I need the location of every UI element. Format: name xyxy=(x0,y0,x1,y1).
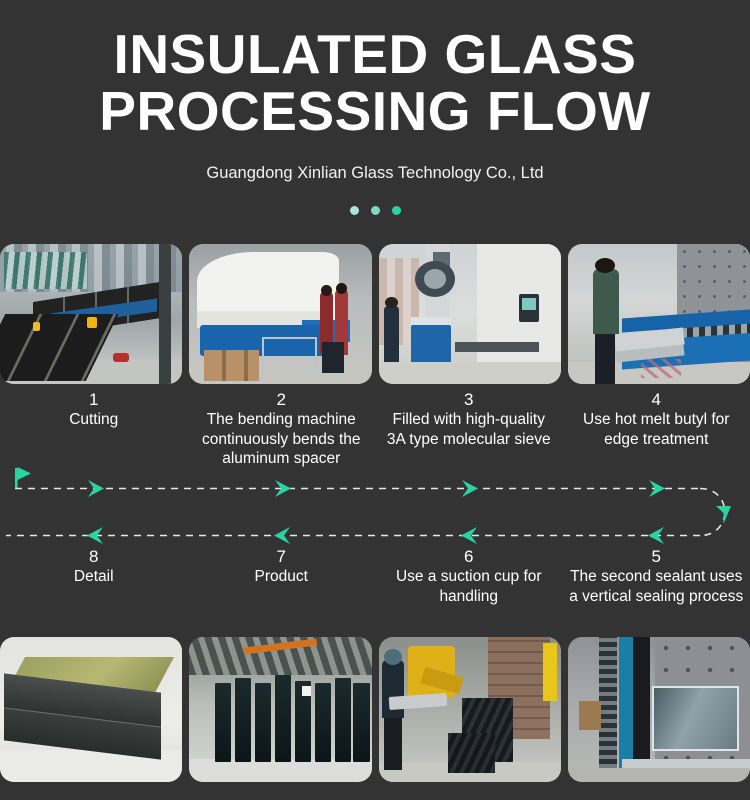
step-photo-8[interactable] xyxy=(0,637,182,782)
bending-machine-illustration xyxy=(189,244,371,384)
suction-cup-handling-illustration xyxy=(379,637,561,782)
flow-arrow-right-1 xyxy=(88,480,104,497)
step-label-8: 8 Detail xyxy=(0,546,188,606)
step-photo-6[interactable] xyxy=(379,637,561,782)
butyl-extruder-illustration xyxy=(568,244,750,384)
step-number-8: 8 xyxy=(6,546,182,567)
step-photo-7[interactable] xyxy=(189,637,371,782)
step-photo-5[interactable] xyxy=(568,637,750,782)
page-title-line-2: PROCESSING FLOW xyxy=(25,83,725,140)
step-text-5: The second sealant uses a vertical seali… xyxy=(569,567,745,606)
process-flow-arrows xyxy=(0,460,750,555)
page-title: INSULATED GLASS PROCESSING FLOW xyxy=(25,26,725,140)
flow-arrow-left-3 xyxy=(274,527,290,544)
step-label-6: 6 Use a suction cup for handling xyxy=(375,546,563,606)
step-text-1: Cutting xyxy=(6,410,182,430)
step-photo-3[interactable] xyxy=(379,244,561,384)
step-text-8: Detail xyxy=(6,567,182,587)
company-subtitle: Guangdong Xinlian Glass Technology Co., … xyxy=(0,164,750,183)
step-label-4: 4 Use hot melt butyl for edge treatment xyxy=(563,389,750,469)
step-number-5: 5 xyxy=(569,546,745,567)
step-number-6: 6 xyxy=(381,546,557,567)
carousel-dots xyxy=(0,206,750,215)
step-text-3: Filled with high-quality 3A type molecul… xyxy=(381,410,557,449)
flow-line-uturn xyxy=(700,489,725,536)
flow-start-flag-icon xyxy=(15,467,31,489)
step-photo-4[interactable] xyxy=(568,244,750,384)
page-title-line-1: INSULATED GLASS xyxy=(25,26,725,83)
flow-arrow-left-1 xyxy=(648,527,664,544)
page-header: INSULATED GLASS PROCESSING FLOW Guangdon… xyxy=(0,0,750,215)
carousel-dot-3[interactable] xyxy=(392,206,401,215)
carousel-dot-1[interactable] xyxy=(350,206,359,215)
flow-arrow-right-3 xyxy=(462,480,478,497)
flow-arrow-right-4 xyxy=(649,480,665,497)
step-label-3: 3 Filled with high-quality 3A type molec… xyxy=(375,389,563,469)
molecular-sieve-machine-illustration xyxy=(379,244,561,384)
process-photo-row-top xyxy=(0,244,750,384)
step-number-3: 3 xyxy=(381,389,557,410)
step-photo-1[interactable] xyxy=(0,244,182,384)
step-number-7: 7 xyxy=(194,546,370,567)
step-labels-top: 1 Cutting 2 The bending machine continuo… xyxy=(0,389,750,469)
vertical-sealing-illustration xyxy=(568,637,750,782)
step-labels-bottom: 8 Detail 7 Product 6 Use a suction cup f… xyxy=(0,546,750,606)
step-number-4: 4 xyxy=(569,389,745,410)
process-photo-row-bottom xyxy=(0,637,750,782)
step-number-1: 1 xyxy=(6,389,182,410)
step-text-4: Use hot melt butyl for edge treatment xyxy=(569,410,745,449)
step-label-1: 1 Cutting xyxy=(0,389,188,469)
step-photo-2[interactable] xyxy=(189,244,371,384)
finished-products-illustration xyxy=(189,637,371,782)
step-text-6: Use a suction cup for handling xyxy=(381,567,557,606)
carousel-dot-2[interactable] xyxy=(371,206,380,215)
glass-corner-detail-illustration xyxy=(0,637,182,782)
flow-arrow-down xyxy=(716,506,731,524)
step-label-7: 7 Product xyxy=(188,546,376,606)
step-label-2: 2 The bending machine continuously bends… xyxy=(188,389,376,469)
step-text-7: Product xyxy=(194,567,370,587)
step-label-5: 5 The second sealant uses a vertical sea… xyxy=(563,546,750,606)
step-number-2: 2 xyxy=(194,389,370,410)
glass-cutting-line-illustration xyxy=(0,244,182,384)
